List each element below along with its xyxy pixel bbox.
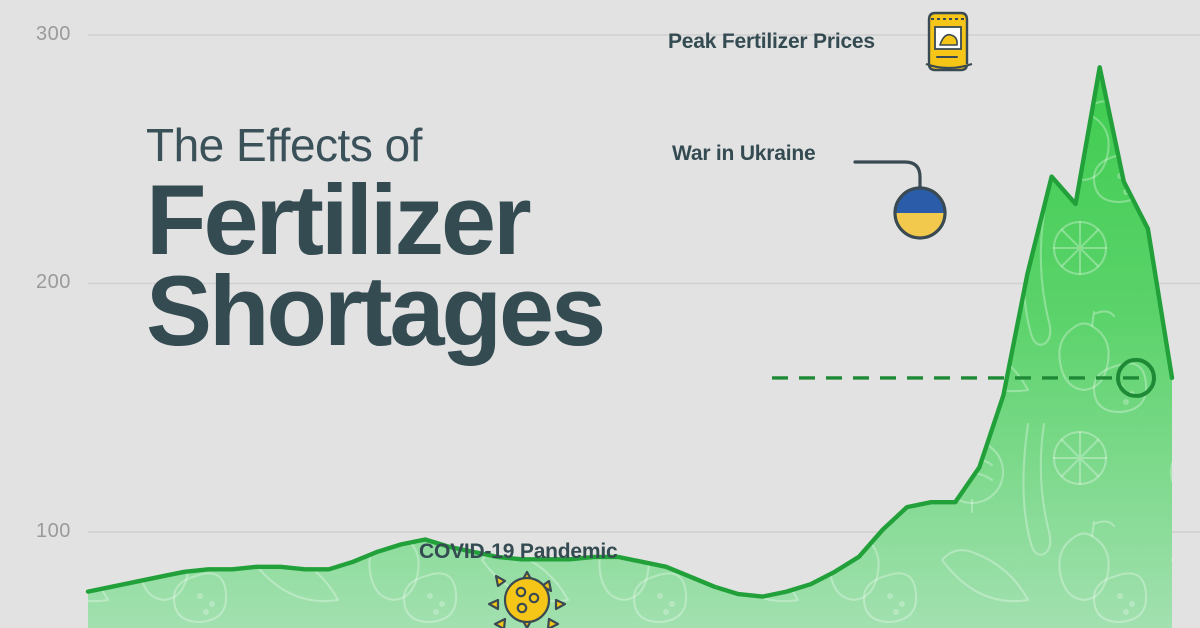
title-line-2: Shortages	[146, 263, 786, 358]
fertilizer-bag-icon	[926, 13, 972, 70]
ukraine-flag-icon	[895, 188, 945, 238]
annotation-label-covid-19-pandemic: COVID-19 Pandemic	[419, 540, 618, 564]
annotation-label-war-in-ukraine: War in Ukraine	[672, 142, 815, 166]
y-axis-tick-200: 200	[36, 271, 71, 294]
infographic-canvas: 300 200 100 The Effects of Fertilizer Sh…	[0, 0, 1200, 628]
annotation-label-peak-fertilizer-prices: Peak Fertilizer Prices	[668, 30, 875, 54]
y-axis-tick-300: 300	[36, 23, 71, 46]
y-axis-tick-100: 100	[36, 520, 71, 543]
title-line-1: Fertilizer	[146, 172, 786, 267]
